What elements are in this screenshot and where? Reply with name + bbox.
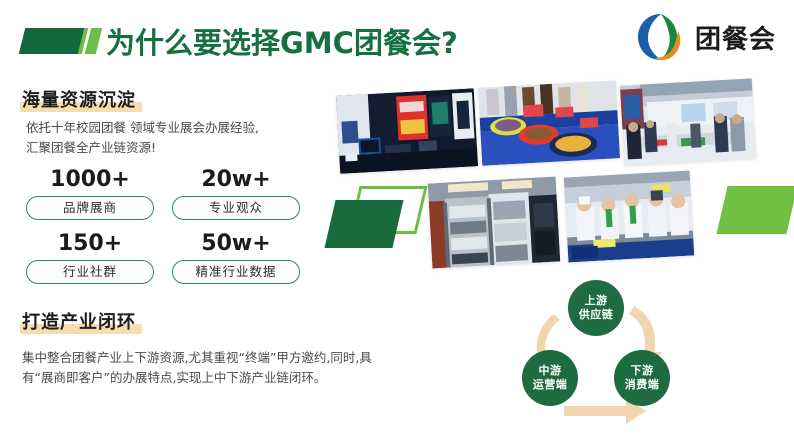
- title-bar-decoration-icon: [19, 28, 87, 54]
- cycle-node-upstream-line2: 供应链: [579, 308, 614, 322]
- stats-row-2: 150+ 行业社群 50w+ 精准行业数据: [26, 232, 326, 284]
- stat-item-visitors: 20w+ 专业观众: [172, 168, 300, 220]
- section2-body: 集中整合团餐产业上下游资源,尤其重视“终端”甲方邀约,同时,具 有“展商即客户”…: [22, 348, 352, 388]
- stat-number: 20w+: [172, 168, 300, 192]
- section2-body-line2: 有“展商即客户”的办展特点,实现上中下游产业链闭环。: [22, 368, 352, 388]
- photo-exhibition-booth: [620, 78, 756, 165]
- stat-label-pill: 行业社群: [26, 260, 154, 284]
- decorative-right-shape-icon: [716, 186, 794, 234]
- section2-heading: 打造产业闭环: [22, 308, 136, 334]
- page-title: 为什么要选择GMC团餐会?: [106, 20, 458, 62]
- section1-body-line1: 依托十年校园团餐 领域专业展会办展经验,: [26, 118, 326, 138]
- title-slash-icon: [85, 28, 102, 54]
- section1-heading: 海量资源沉淀: [22, 86, 136, 112]
- photo-collage: [330, 82, 794, 267]
- section2-heading-text: 打造产业闭环: [22, 312, 136, 333]
- logo-text: 团餐会: [695, 19, 776, 56]
- swoosh-logo-icon: [635, 11, 687, 63]
- decorative-filled-shape-icon: [324, 200, 403, 248]
- cycle-node-downstream-line1: 下游: [631, 364, 654, 378]
- cycle-node-midstream: 中游 运营端: [522, 350, 578, 406]
- photo-kitchen-equipment: [428, 176, 561, 268]
- section1-body: 依托十年校园团餐 领域专业展会办展经验, 汇聚团餐全产业链资源!: [26, 118, 326, 158]
- slide-header: 为什么要选择GMC团餐会? 团餐会: [0, 0, 794, 78]
- cycle-node-midstream-line2: 运营端: [533, 378, 568, 392]
- stat-label-pill: 专业观众: [172, 196, 300, 220]
- photo-food-display: [478, 80, 620, 166]
- brand-logo: 团餐会: [635, 10, 776, 64]
- section2-body-line1: 集中整合团餐产业上下游资源,尤其重视“终端”甲方邀约,同时,具: [22, 348, 352, 368]
- stat-label-pill: 品牌展商: [26, 196, 154, 220]
- stat-item-exhibitors: 1000+ 品牌展商: [26, 168, 154, 220]
- photo-self-service-kiosk: [336, 88, 478, 174]
- stats-grid: 1000+ 品牌展商 20w+ 专业观众 150+ 行业社群 50w+ 精准行业…: [26, 168, 326, 296]
- slide-root: 为什么要选择GMC团餐会? 团餐会 海量资源沉淀 依托十年校园团餐 领域专业展会…: [0, 0, 794, 434]
- cycle-node-upstream-line1: 上游: [585, 294, 608, 308]
- cycle-node-midstream-line1: 中游: [539, 364, 562, 378]
- stat-number: 50w+: [172, 232, 300, 256]
- cycle-node-downstream-line2: 消费端: [625, 378, 660, 392]
- cycle-node-downstream: 下游 消费端: [614, 350, 670, 406]
- stats-row-1: 1000+ 品牌展商 20w+ 专业观众: [26, 168, 326, 220]
- stat-item-communities: 150+ 行业社群: [26, 232, 154, 284]
- industry-cycle-diagram: 上游 供应链 中游 运营端 下游 消费端: [486, 278, 706, 428]
- photo-staff-team: [564, 171, 695, 263]
- stat-number: 1000+: [26, 168, 154, 192]
- stat-number: 150+: [26, 232, 154, 256]
- stat-label-pill: 精准行业数据: [172, 260, 300, 284]
- section1-heading-text: 海量资源沉淀: [22, 90, 136, 111]
- cycle-node-upstream: 上游 供应链: [568, 280, 624, 336]
- stat-item-data: 50w+ 精准行业数据: [172, 232, 300, 284]
- section1-body-line2: 汇聚团餐全产业链资源!: [26, 138, 326, 158]
